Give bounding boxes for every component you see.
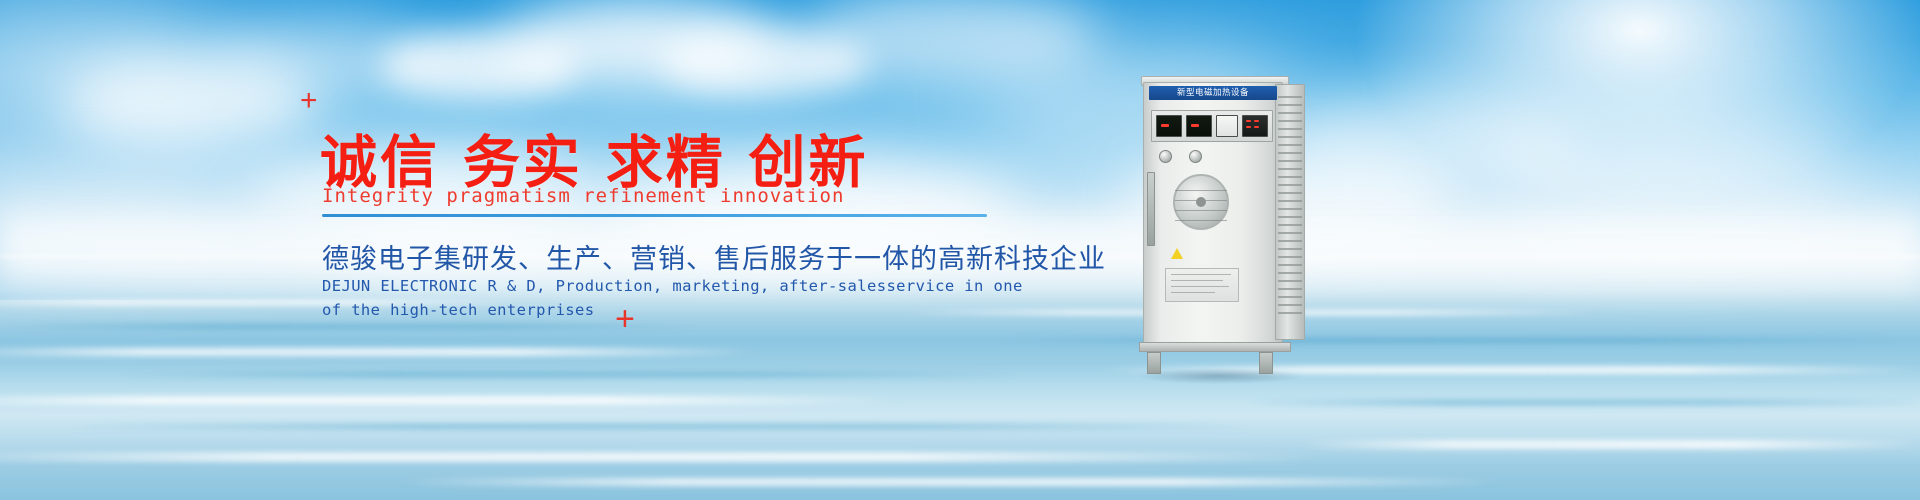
- vent-slot: [1278, 200, 1302, 202]
- vent-slot: [1278, 240, 1302, 242]
- machine-control-panel: [1151, 110, 1273, 142]
- vent-slot: [1278, 304, 1302, 306]
- sea-streak: [1250, 400, 1920, 405]
- plate-text-line: [1171, 280, 1223, 281]
- banner-text-block: + 诚信 务实 求精 创新 Integrity pragmatism refin…: [0, 0, 1100, 500]
- hero-banner: + 诚信 务实 求精 创新 Integrity pragmatism refin…: [0, 0, 1920, 500]
- machine-spec-plate: [1165, 268, 1239, 302]
- vent-slot: [1278, 272, 1302, 274]
- digital-display-1: [1156, 115, 1182, 137]
- vent-slot: [1278, 264, 1302, 266]
- vent-slot: [1278, 144, 1302, 146]
- vent-slot: [1278, 224, 1302, 226]
- plate-text-line: [1171, 286, 1229, 287]
- machine-base: [1139, 342, 1291, 352]
- machine-vent-panel: [1275, 84, 1305, 340]
- vent-slot: [1278, 120, 1302, 122]
- machine-side-strip: [1147, 172, 1155, 246]
- vent-slot: [1278, 96, 1302, 98]
- control-knob: [1159, 150, 1172, 163]
- divider-line: [322, 214, 987, 217]
- headline-english: Integrity pragmatism refinement innovati…: [322, 185, 844, 207]
- vent-slot: [1278, 176, 1302, 178]
- machine-foot: [1147, 352, 1161, 374]
- vent-slot: [1278, 128, 1302, 130]
- vent-slot: [1278, 312, 1302, 314]
- vent-slot: [1278, 112, 1302, 114]
- control-knob: [1189, 150, 1202, 163]
- plus-decoration-icon: +: [300, 86, 318, 116]
- subtitle-chinese: 德骏电子集研发、生产、营销、售后服务于一体的高新科技企业: [322, 237, 1106, 276]
- vent-slot: [1278, 296, 1302, 298]
- vent-slot: [1278, 280, 1302, 282]
- plate-text-line: [1171, 292, 1215, 293]
- vent-slot: [1278, 216, 1302, 218]
- vent-slot: [1278, 104, 1302, 106]
- vent-slot: [1278, 168, 1302, 170]
- vent-slot: [1278, 288, 1302, 290]
- cooling-fan-grill: [1173, 174, 1229, 230]
- vent-slot: [1278, 256, 1302, 258]
- warning-triangle-icon: [1171, 248, 1183, 259]
- analog-gauge: [1216, 115, 1238, 137]
- vent-slot: [1278, 160, 1302, 162]
- machine-foot: [1259, 352, 1273, 374]
- sea-streak: [1300, 440, 1920, 449]
- keypad-panel: [1242, 115, 1268, 137]
- subtitle-english-line-1: DEJUN ELECTRONIC R & D, Production, mark…: [322, 277, 1023, 295]
- product-image-heating-machine: 新型电磁加热设备: [1125, 62, 1315, 362]
- plate-text-line: [1171, 274, 1231, 275]
- vent-slot: [1278, 192, 1302, 194]
- digital-display-2: [1186, 115, 1212, 137]
- vent-slot: [1278, 248, 1302, 250]
- vent-slot: [1278, 136, 1302, 138]
- plus-decoration-icon: +: [615, 302, 635, 336]
- vent-slot: [1278, 232, 1302, 234]
- vent-slot: [1278, 152, 1302, 154]
- vent-slot: [1278, 184, 1302, 186]
- vent-slot: [1278, 208, 1302, 210]
- subtitle-english-line-2: of the high-tech enterprises: [322, 301, 595, 319]
- machine-brand-label: 新型电磁加热设备: [1149, 86, 1277, 100]
